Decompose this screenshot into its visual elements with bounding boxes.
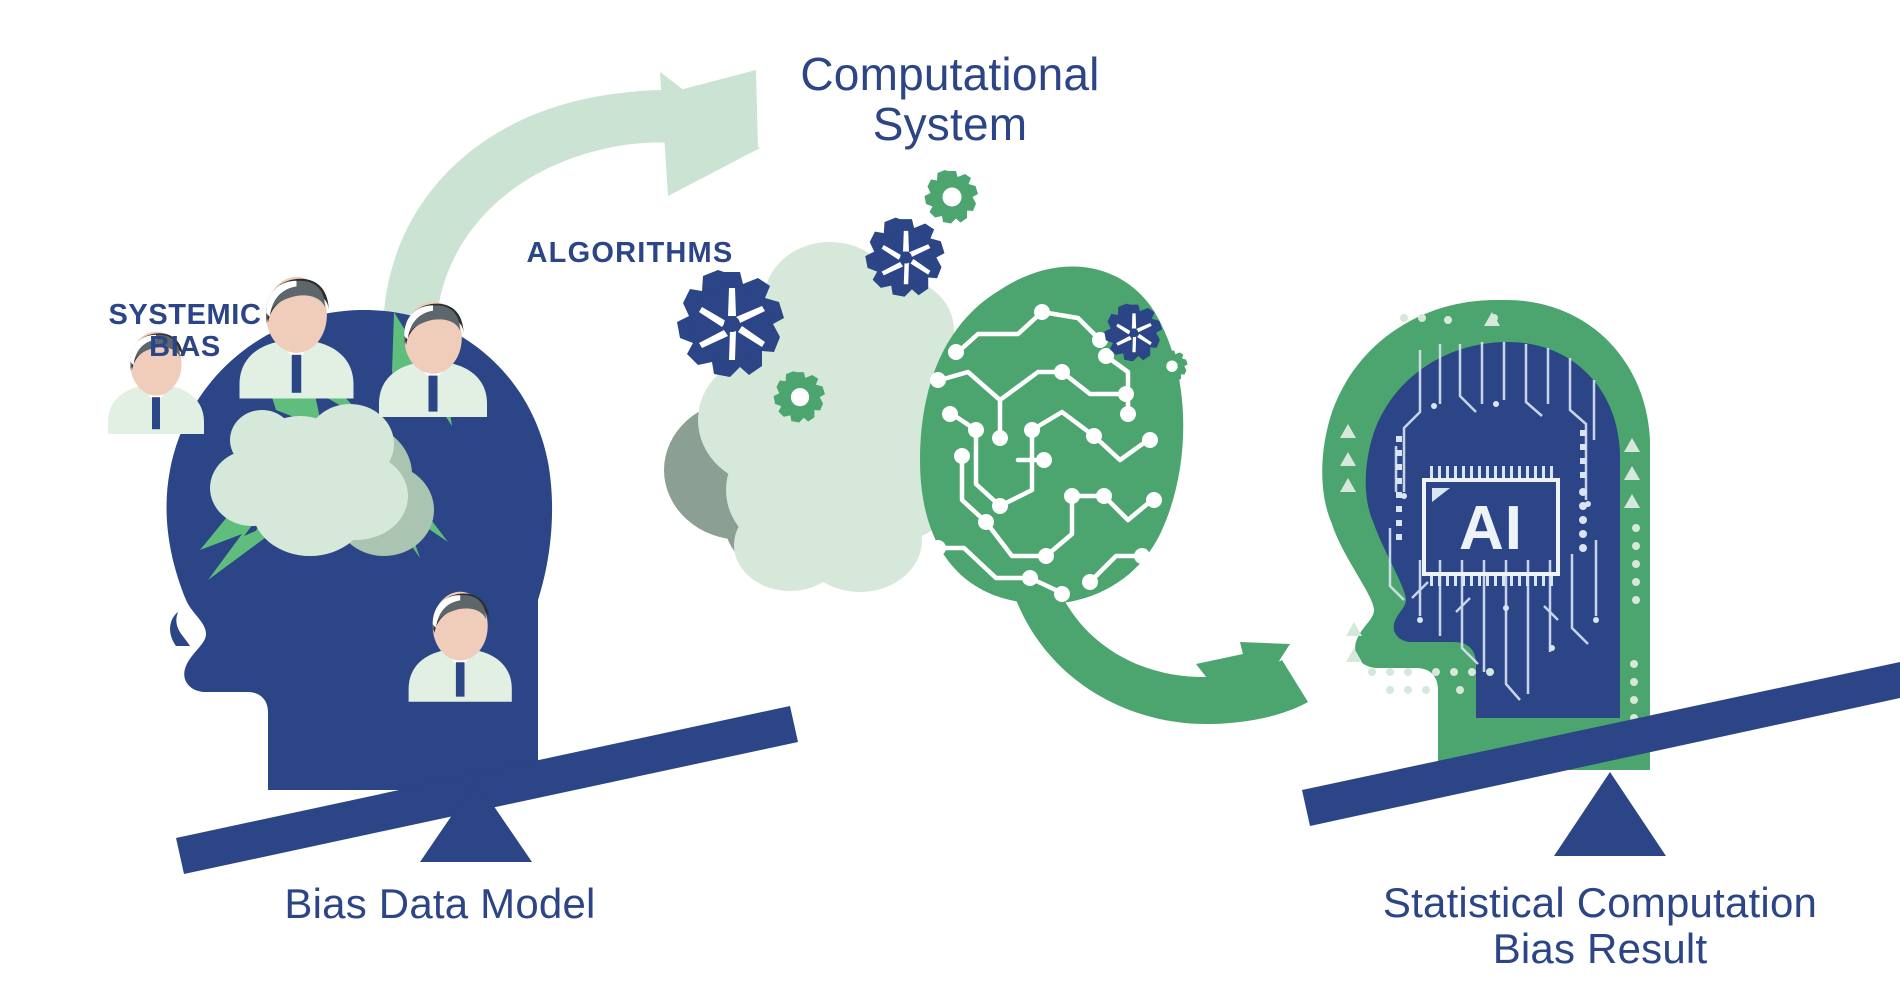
title-line2: System bbox=[873, 98, 1028, 150]
caption-bias-data-model: Bias Data Model bbox=[120, 880, 760, 928]
caption-statistical-computation-bias-result: Statistical Computation Bias Result bbox=[1290, 880, 1900, 972]
ai-result-group bbox=[0, 0, 1900, 1002]
result-line1: Statistical Computation bbox=[1383, 879, 1817, 926]
systemic-line2: BIAS bbox=[149, 331, 221, 363]
result-line2: Bias Result bbox=[1493, 925, 1708, 972]
page-title-computational-system: Computational System bbox=[640, 50, 1260, 149]
title-line1: Computational bbox=[800, 48, 1099, 100]
ai-chip-label: AI bbox=[1459, 493, 1523, 564]
systemic-line1: SYSTEMIC bbox=[108, 299, 261, 331]
infographic-canvas: Computational System ALGORITHMS SYSTEMIC… bbox=[0, 0, 1900, 1002]
ai-chip-label-wrap: AI bbox=[1424, 484, 1558, 572]
label-algorithms: ALGORITHMS bbox=[430, 237, 830, 270]
label-systemic-bias: SYSTEMIC BIAS bbox=[20, 300, 350, 364]
